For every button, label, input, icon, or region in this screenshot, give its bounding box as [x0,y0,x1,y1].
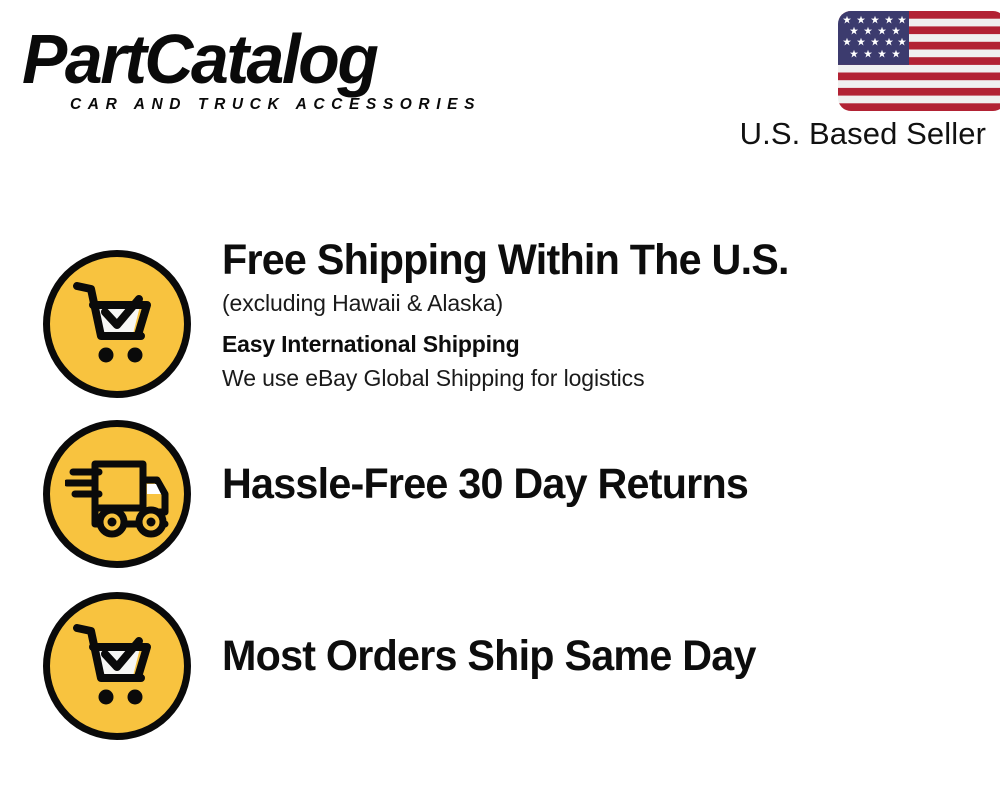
feature-row: Most Orders Ship Same Day [0,592,1000,740]
feature-text-block: Most Orders Ship Same Day [222,630,982,682]
spacer [222,320,982,327]
feature-text-block: Hassle-Free 30 Day Returns [222,458,982,510]
feature-subdetail: We use eBay Global Shipping for logistic… [222,361,982,395]
feature-heading: Hassle-Free 30 Day Returns [222,458,952,510]
feature-subheading: Easy International Shipping [222,327,982,361]
page-header: PartCatalog CAR AND TRUCK ACCESSORIES [0,0,1000,180]
feature-subnote: (excluding Hawaii & Alaska) [222,286,982,320]
feature-row: Hassle-Free 30 Day Returns [0,420,1000,568]
shopping-cart-check-icon [43,592,191,740]
us-flag-icon [838,11,1000,111]
feature-text-block: Free Shipping Within The U.S. (excluding… [222,234,982,395]
brand-wordmark: PartCatalog [22,24,478,94]
brand-logo[interactable]: PartCatalog CAR AND TRUCK ACCESSORIES [22,24,492,116]
feature-heading: Most Orders Ship Same Day [222,630,952,682]
feature-heading: Free Shipping Within The U.S. [222,234,952,286]
us-based-seller-label: U.S. Based Seller [740,117,986,151]
brand-tagline: CAR AND TRUCK ACCESSORIES [70,96,481,114]
feature-row: Free Shipping Within The U.S. (excluding… [0,250,1000,398]
shopping-cart-check-icon [43,250,191,398]
delivery-truck-icon [43,420,191,568]
